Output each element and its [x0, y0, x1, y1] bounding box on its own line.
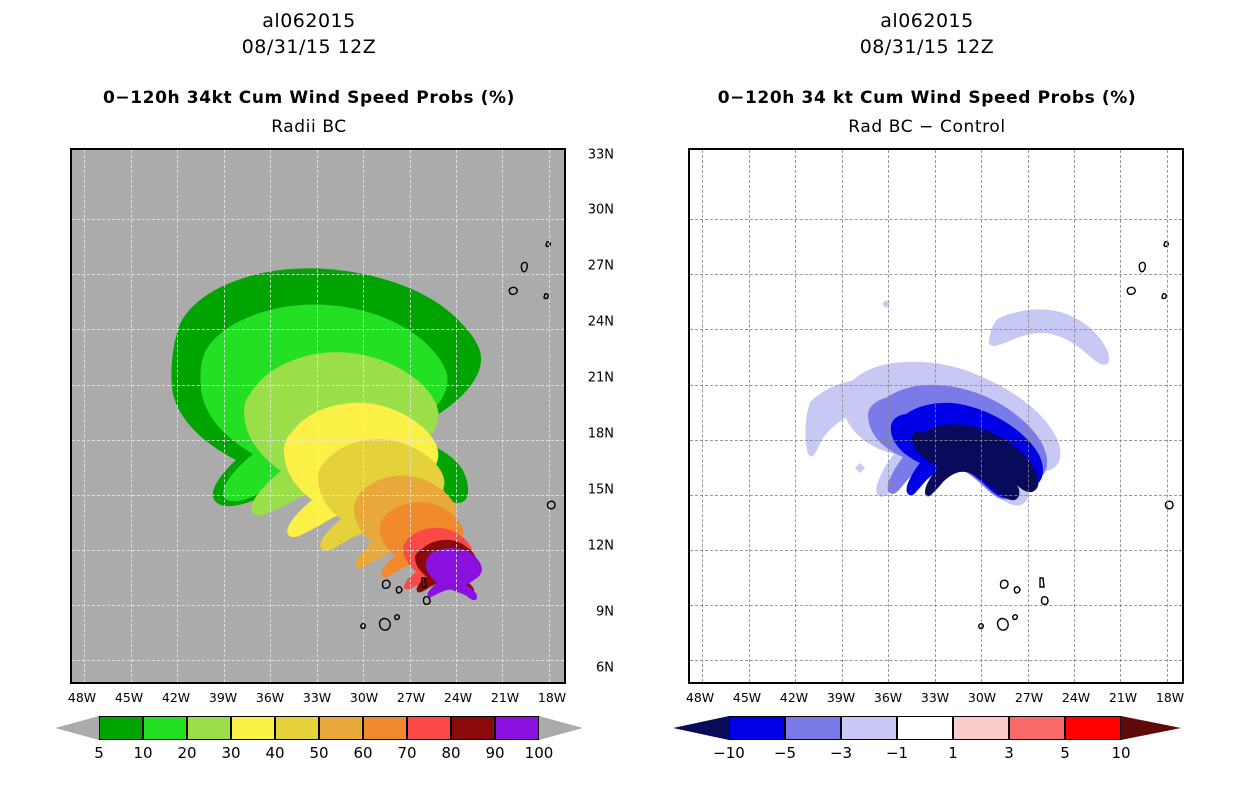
- panel-radii-bc: al062015 08/31/15 12Z 0−120h 34kt Cum Wi…: [0, 0, 618, 800]
- colorbar-band-50[interactable]: [319, 716, 363, 740]
- colorbar-over-arrow-left: [539, 716, 583, 740]
- ytick-18n-r: 18N: [588, 427, 614, 442]
- colorbar-label-pos10: 10: [1111, 744, 1130, 762]
- colorbar-label-40: 40: [265, 744, 284, 762]
- colorbar-label-pos5: 5: [1060, 744, 1070, 762]
- colorbar-left[interactable]: 5 10 20 30 40 50 60 70 80 90 100: [55, 716, 563, 740]
- xtick-21w-r: 21W: [1109, 690, 1137, 705]
- colorbar-over-arrow-right: [1121, 716, 1181, 740]
- colorbar-label-pos3: 3: [1004, 744, 1014, 762]
- colorbar-label-20: 20: [177, 744, 196, 762]
- colorbar-band-pos5[interactable]: [1065, 716, 1121, 740]
- xtick-48w: 48W: [68, 690, 96, 705]
- storm-id-left: al062015: [0, 10, 618, 32]
- colorbar-band-20[interactable]: [187, 716, 231, 740]
- colorbar-band-pos3[interactable]: [1009, 716, 1065, 740]
- colorbar-label-neg3: −3: [830, 744, 852, 762]
- colorbar-band-30[interactable]: [231, 716, 275, 740]
- colorbar-band-neg5[interactable]: [785, 716, 841, 740]
- xtick-39w-r: 39W: [827, 690, 855, 705]
- xtick-18w-r: 18W: [1156, 690, 1184, 705]
- colorbar-band-neg3[interactable]: [841, 716, 897, 740]
- colorbar-band-neutral[interactable]: [897, 716, 953, 740]
- ytick-24n-r: 24N: [588, 315, 614, 330]
- colorbar-label-neg10: −10: [713, 744, 745, 762]
- plot-subtitle-right: Rad BC − Control: [618, 117, 1236, 137]
- colorbar-label-50: 50: [309, 744, 328, 762]
- colorbar-band-pos1[interactable]: [953, 716, 1009, 740]
- xtick-36w-r: 36W: [874, 690, 902, 705]
- coastline-left: [72, 150, 564, 682]
- xtick-24w-r: 24W: [1062, 690, 1090, 705]
- plot-title-right: 0−120h 34 kt Cum Wind Speed Probs (%): [618, 88, 1236, 108]
- colorbar-band-10[interactable]: [143, 716, 187, 740]
- xtick-45w: 45W: [115, 690, 143, 705]
- figure-root: al062015 08/31/15 12Z 0−120h 34kt Cum Wi…: [0, 0, 1236, 800]
- atlantic-islands-right: [1127, 242, 1173, 509]
- colorbar-band-neg10[interactable]: [729, 716, 785, 740]
- colorbar-band-70[interactable]: [407, 716, 451, 740]
- ytick-33n-r: 33N: [588, 148, 614, 163]
- colorbar-label-10: 10: [133, 744, 152, 762]
- plot-subtitle-left: Radii BC: [0, 117, 618, 137]
- colorbar-label-60: 60: [353, 744, 372, 762]
- contour-diff-speck-1: [882, 300, 890, 308]
- xtick-42w: 42W: [162, 690, 190, 705]
- colorbar-band-60[interactable]: [363, 716, 407, 740]
- colorbar-label-90: 90: [485, 744, 504, 762]
- forecast-datetime-right: 08/31/15 12Z: [618, 36, 1236, 58]
- colorbar-label-100: 100: [525, 744, 554, 762]
- ytick-6n-r: 6N: [596, 661, 614, 676]
- xtick-48w-r: 48W: [686, 690, 714, 705]
- ytick-27n-r: 27N: [588, 259, 614, 274]
- xtick-33w-r: 33W: [921, 690, 949, 705]
- difference-contours-right: [690, 150, 1182, 682]
- xtick-33w: 33W: [303, 690, 331, 705]
- xtick-39w: 39W: [209, 690, 237, 705]
- map-plot-left[interactable]: [70, 148, 566, 684]
- forecast-datetime-left: 08/31/15 12Z: [0, 36, 618, 58]
- ytick-15n-r: 15N: [588, 483, 614, 498]
- xtick-30w: 30W: [350, 690, 378, 705]
- colorbar-right[interactable]: −10 −5 −3 −1 1 3 5 10: [673, 716, 1181, 740]
- ytick-21n-r: 21N: [588, 371, 614, 386]
- plot-title-left: 0−120h 34kt Cum Wind Speed Probs (%): [0, 88, 618, 108]
- colorbar-under-arrow-left: [55, 716, 99, 740]
- panel-rad-bc-minus-control: al062015 08/31/15 12Z 0−120h 34 kt Cum W…: [618, 0, 1236, 800]
- colorbar-band-90[interactable]: [495, 716, 539, 740]
- xtick-27w: 27W: [397, 690, 425, 705]
- colorbar-label-neg5: −5: [774, 744, 796, 762]
- colorbar-band-40[interactable]: [275, 716, 319, 740]
- colorbar-band-80[interactable]: [451, 716, 495, 740]
- xtick-42w-r: 42W: [780, 690, 808, 705]
- colorbar-label-30: 30: [221, 744, 240, 762]
- cape-verde-islands-right: [979, 578, 1048, 630]
- ytick-12n-r: 12N: [588, 539, 614, 554]
- colorbar-under-arrow-right: [673, 716, 729, 740]
- xtick-27w-r: 27W: [1015, 690, 1043, 705]
- colorbar-label-5: 5: [94, 744, 104, 762]
- contour-diff-lobe-ne: [989, 309, 1110, 364]
- xtick-36w: 36W: [256, 690, 284, 705]
- map-plot-right[interactable]: [688, 148, 1184, 684]
- xtick-45w-r: 45W: [733, 690, 761, 705]
- colorbar-band-5[interactable]: [99, 716, 143, 740]
- xtick-30w-r: 30W: [968, 690, 996, 705]
- colorbar-label-70: 70: [397, 744, 416, 762]
- colorbar-label-neg1: −1: [886, 744, 908, 762]
- ytick-30n-r: 30N: [588, 203, 614, 218]
- colorbar-label-pos1: 1: [948, 744, 958, 762]
- xtick-18w: 18W: [538, 690, 566, 705]
- contour-diff-speck-3: [855, 463, 865, 473]
- ytick-9n-r: 9N: [596, 605, 614, 620]
- colorbar-label-80: 80: [441, 744, 460, 762]
- xtick-24w: 24W: [444, 690, 472, 705]
- storm-id-right: al062015: [618, 10, 1236, 32]
- xtick-21w: 21W: [491, 690, 519, 705]
